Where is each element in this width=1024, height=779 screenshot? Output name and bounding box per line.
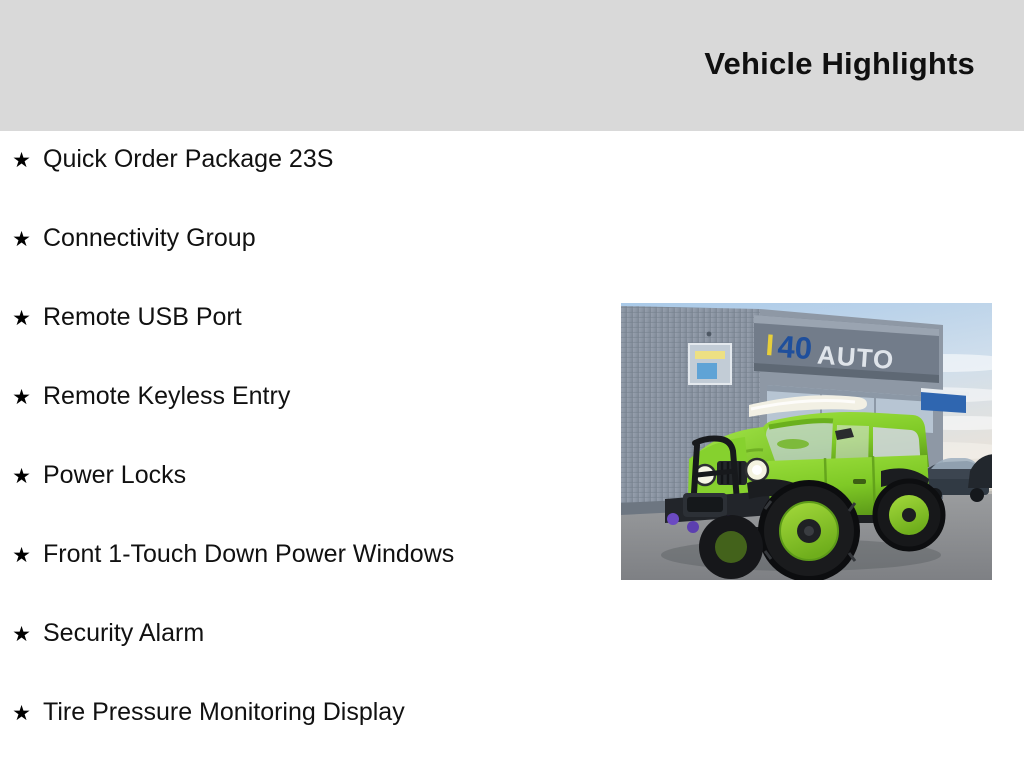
highlight-label: Remote USB Port: [43, 305, 242, 330]
highlight-label: Power Locks: [43, 463, 186, 488]
rear-wheel: [875, 481, 943, 549]
page-header: Vehicle Highlights: [0, 0, 1024, 131]
vehicle-highlights-list: ★ Quick Order Package 23S ★ Connectivity…: [0, 147, 610, 779]
star-icon: ★: [0, 624, 43, 645]
list-item: ★ Security Alarm: [0, 621, 610, 700]
dealer-sign-part-2: 40: [776, 329, 813, 366]
highlight-label: Security Alarm: [43, 621, 204, 646]
vehicle-photo-illustration: I 40 AUTO: [621, 303, 992, 580]
list-item: ★ Quick Order Package 23S: [0, 147, 610, 226]
star-icon: ★: [0, 466, 43, 487]
star-icon: ★: [0, 545, 43, 566]
list-item: ★ Remote Keyless Entry: [0, 384, 610, 463]
list-item: ★ Connectivity Group: [0, 226, 610, 305]
star-icon: ★: [0, 308, 43, 329]
star-icon: ★: [0, 387, 43, 408]
light-purple-left: [687, 521, 699, 533]
list-item: ★ Tire Pressure Monitoring Display: [0, 700, 610, 779]
vehicle-photo: I 40 AUTO: [621, 303, 992, 580]
star-icon: ★: [0, 703, 43, 724]
star-icon: ★: [0, 229, 43, 250]
highlight-label: Front 1-Touch Down Power Windows: [43, 542, 454, 567]
highlight-label: Tire Pressure Monitoring Display: [43, 700, 405, 725]
list-item: ★ Front 1-Touch Down Power Windows: [0, 542, 610, 621]
star-icon: ★: [0, 150, 43, 171]
page-title: Vehicle Highlights: [704, 46, 975, 82]
list-item: ★ Power Locks: [0, 463, 610, 542]
highlight-label: Connectivity Group: [43, 226, 256, 251]
front-wheel: [761, 483, 857, 579]
list-item: ★ Remote USB Port: [0, 305, 610, 384]
dealer-sign-part-3: AUTO: [816, 340, 895, 375]
highlight-label: Quick Order Package 23S: [43, 147, 333, 172]
highlight-label: Remote Keyless Entry: [43, 384, 290, 409]
